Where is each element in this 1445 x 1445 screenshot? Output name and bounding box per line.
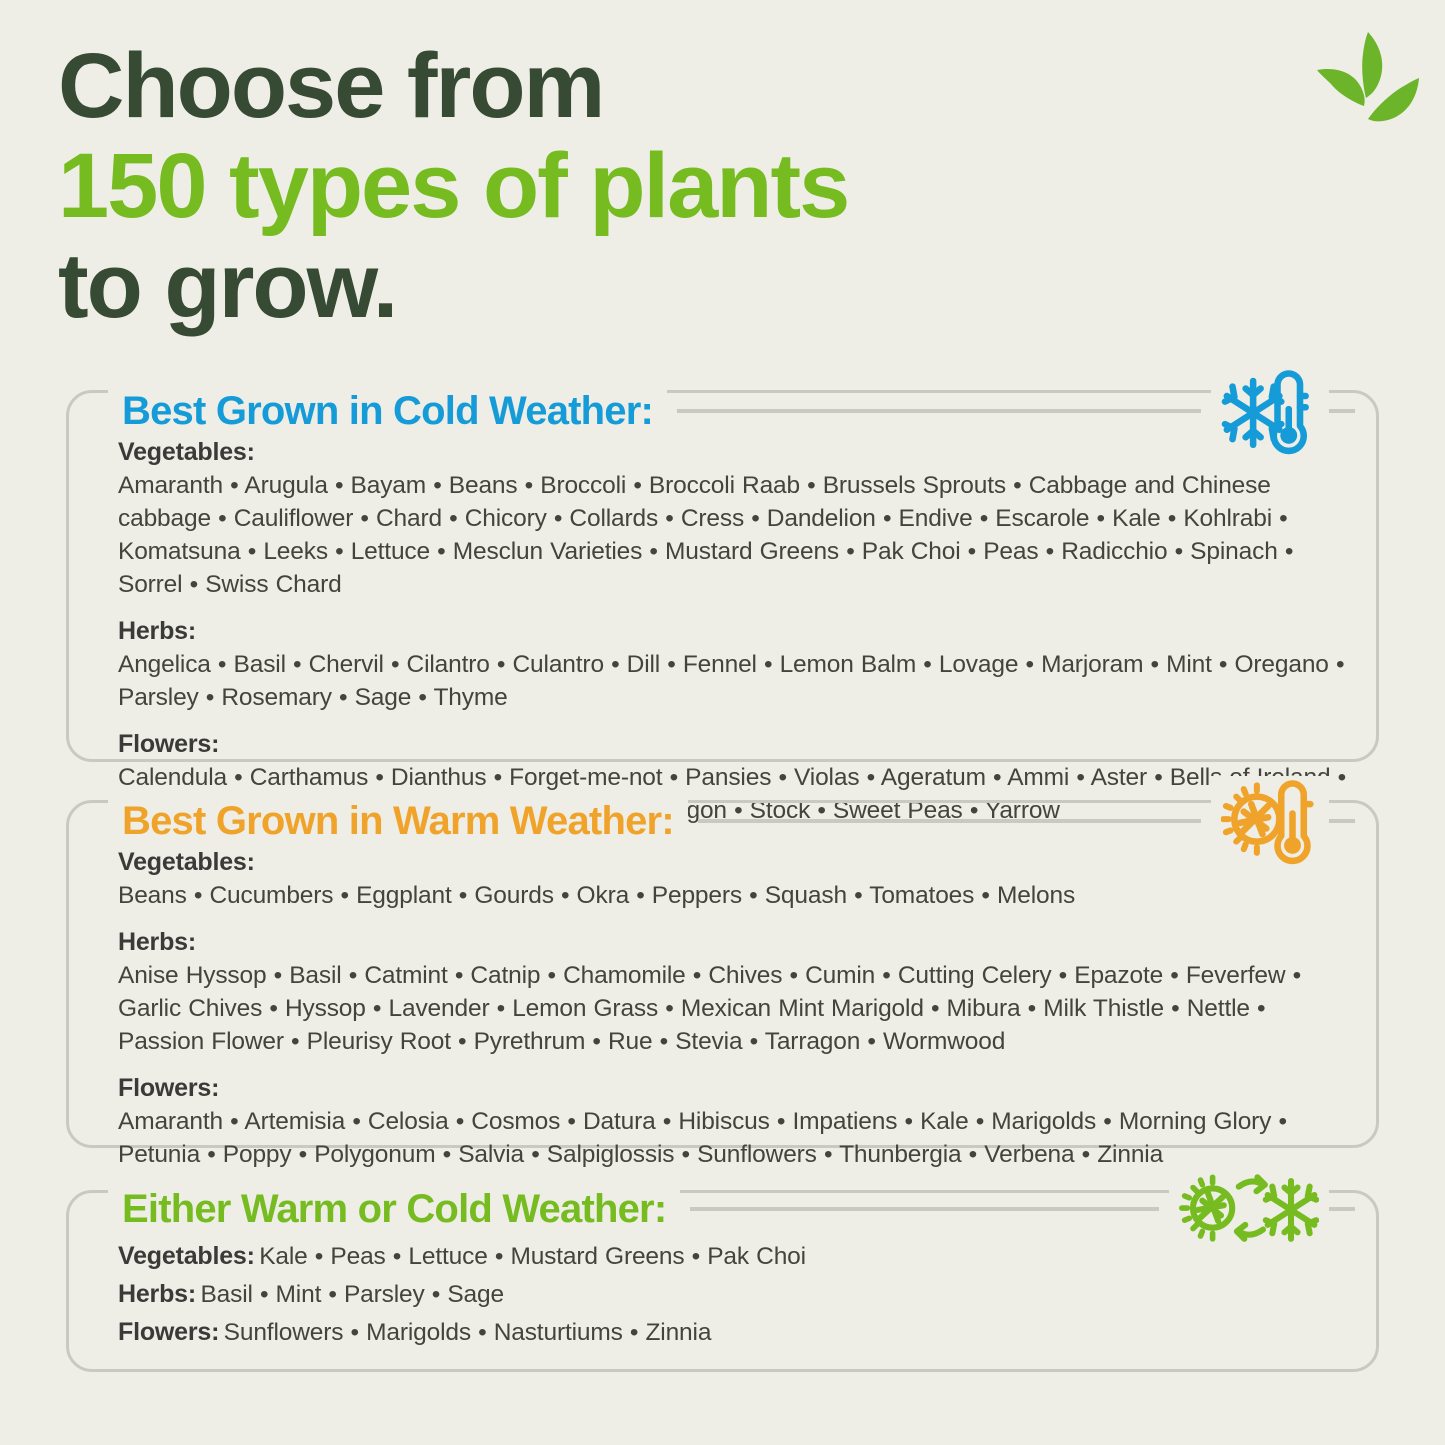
header-rule bbox=[698, 819, 1201, 823]
group-label: Vegetables: bbox=[118, 436, 1349, 469]
group-flowers: Flowers: Amaranth • Artemisia • Celosia … bbox=[118, 1072, 1349, 1171]
header-rule bbox=[690, 1207, 1159, 1211]
warm-weather-header: Best Grown in Warm Weather: bbox=[108, 792, 1355, 850]
group-items: Anise Hyssop • Basil • Catmint • Catnip … bbox=[118, 959, 1349, 1058]
either-weather-body: Vegetables: Kale • Peas • Lettuce • Must… bbox=[118, 1240, 1349, 1349]
group-label: Flowers: bbox=[118, 728, 1349, 761]
group-items: Angelica • Basil • Chervil • Cilantro • … bbox=[118, 648, 1349, 714]
three-leaves-icon bbox=[1313, 26, 1423, 138]
group-vegetables: Vegetables: Beans • Cucumbers • Eggplant… bbox=[118, 846, 1349, 912]
header-rule bbox=[677, 409, 1201, 413]
group-herbs: Herbs: Angelica • Basil • Chervil • Cila… bbox=[118, 615, 1349, 714]
header-rule-end bbox=[1329, 409, 1355, 413]
headline-line-2: 150 types of plants bbox=[58, 136, 1118, 236]
group-vegetables: Vegetables: Amaranth • Arugula • Bayam •… bbox=[118, 436, 1349, 601]
cold-weather-body: Vegetables: Amaranth • Arugula • Bayam •… bbox=[118, 436, 1349, 827]
header-rule-end bbox=[1329, 819, 1355, 823]
group-items: Amaranth • Artemisia • Celosia • Cosmos … bbox=[118, 1105, 1349, 1171]
group-items: Sunflowers • Marigolds • Nasturtiums • Z… bbox=[224, 1319, 712, 1346]
page-title: Choose from 150 types of plants to grow. bbox=[58, 36, 1118, 336]
group-herbs: Herbs: Basil • Mint • Parsley • Sage bbox=[118, 1278, 1349, 1311]
group-flowers: Flowers: Sunflowers • Marigolds • Nastur… bbox=[118, 1316, 1349, 1349]
header-rule-end bbox=[1329, 1207, 1355, 1211]
either-weather-header: Either Warm or Cold Weather: bbox=[108, 1180, 1355, 1238]
group-herbs: Herbs: Anise Hyssop • Basil • Catmint • … bbox=[118, 926, 1349, 1058]
group-label: Flowers: bbox=[118, 1072, 1349, 1105]
group-label: Vegetables: bbox=[118, 846, 1349, 879]
group-label: Herbs: bbox=[118, 615, 1349, 648]
cold-weather-title: Best Grown in Cold Weather: bbox=[108, 388, 667, 434]
group-items: Kale • Peas • Lettuce • Mustard Greens •… bbox=[259, 1243, 806, 1270]
group-items: Amaranth • Arugula • Bayam • Beans • Bro… bbox=[118, 469, 1349, 601]
headline-line-1: Choose from bbox=[58, 36, 1118, 136]
group-label: Vegetables: bbox=[118, 1242, 255, 1270]
warm-weather-body: Vegetables: Beans • Cucumbers • Eggplant… bbox=[118, 846, 1349, 1171]
group-label: Herbs: bbox=[118, 926, 1349, 959]
either-weather-title: Either Warm or Cold Weather: bbox=[108, 1186, 680, 1232]
group-label: Flowers: bbox=[118, 1318, 219, 1346]
warm-weather-title: Best Grown in Warm Weather: bbox=[108, 798, 688, 844]
group-label: Herbs: bbox=[118, 1280, 196, 1308]
group-items: Beans • Cucumbers • Eggplant • Gourds • … bbox=[118, 879, 1349, 912]
group-items: Basil • Mint • Parsley • Sage bbox=[200, 1281, 504, 1308]
headline-line-3: to grow. bbox=[58, 236, 1118, 336]
cold-weather-header: Best Grown in Cold Weather: bbox=[108, 382, 1355, 440]
group-vegetables: Vegetables: Kale • Peas • Lettuce • Must… bbox=[118, 1240, 1349, 1273]
